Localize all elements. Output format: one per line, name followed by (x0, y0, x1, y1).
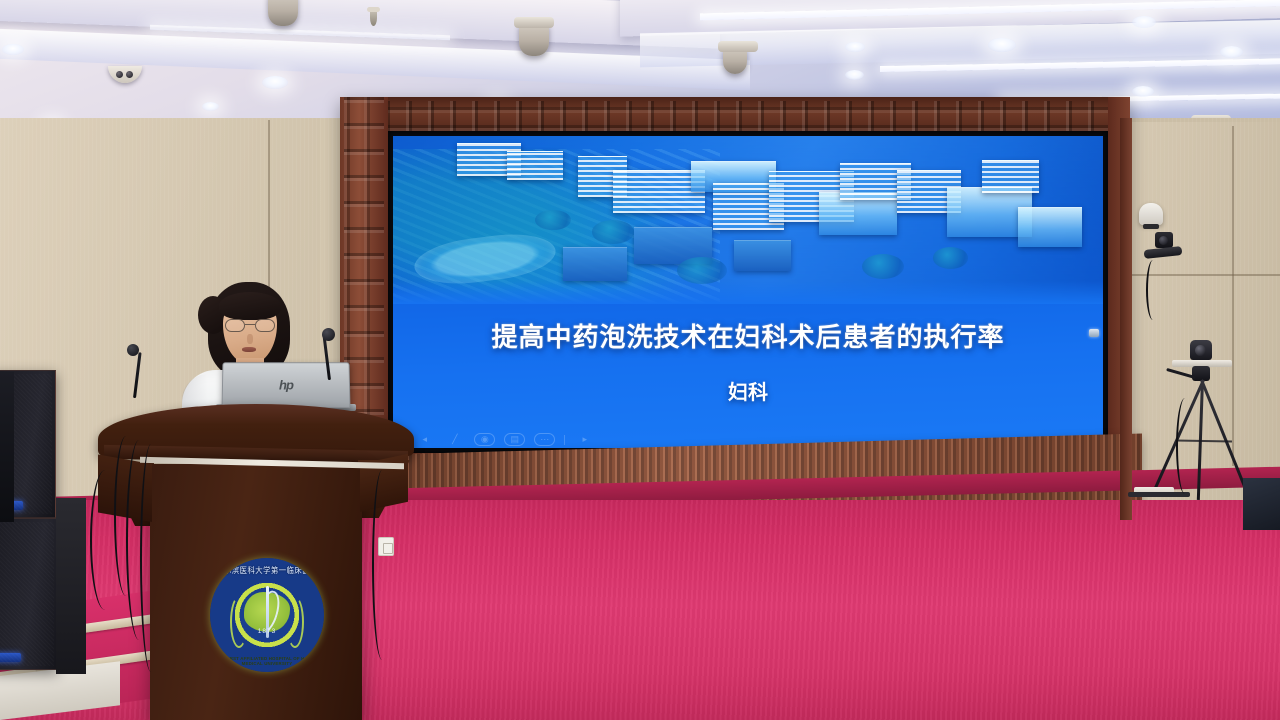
lecture-hall-scene: 提高中药泡洗技术在妇科术后患者的执行率 妇科 ◂ ╱ ◉ ▤ ⋯ ▸ (0, 0, 1280, 720)
glasses-lens-left (225, 319, 245, 332)
next-slide-icon[interactable]: ▸ (574, 433, 595, 446)
gooseneck-mic-right-head-icon (322, 328, 335, 341)
screen-frame-top (340, 97, 1130, 135)
pen-tool-icon[interactable]: ╱ (444, 433, 465, 446)
floor-cable-bar (1128, 492, 1190, 497)
glasses-bridge (245, 324, 255, 325)
emblem-inner: 哈尔滨医科大学第一临床医院 1873 THE FIRST AFFILIATED … (210, 558, 324, 672)
cable-4 (90, 470, 120, 610)
slide-view-icon[interactable]: ▤ (504, 433, 525, 446)
emblem-english-text: THE FIRST AFFILIATED HOSPITAL OF HARBIN … (213, 656, 321, 666)
flood-light-1 (268, 0, 298, 26)
down-light-5 (1132, 16, 1156, 28)
emblem-year: 1873 (210, 628, 324, 635)
wall-trim-right (1120, 118, 1132, 520)
tree-cluster-2 (592, 220, 635, 244)
emblem-chinese-text: 哈尔滨医科大学第一临床医院 (215, 565, 320, 576)
presenter-mouth (242, 347, 256, 352)
laptop-brand-logo: hp (279, 378, 293, 393)
sprinkler-head-1 (370, 10, 377, 26)
speaker-lower (0, 518, 58, 670)
previous-slide-icon[interactable]: ◂ (414, 433, 435, 446)
building-14 (563, 247, 627, 281)
tree-cluster-5 (933, 247, 969, 269)
more-options-icon[interactable]: ⋯ (534, 433, 555, 446)
tripod-camera-rig (1160, 340, 1246, 502)
slide-title: 提高中药泡洗技术在妇科术后患者的执行率 (393, 317, 1103, 354)
laptop[interactable]: hp (222, 362, 351, 408)
cable-5 (372, 470, 392, 660)
slide-background-aerial-photo (393, 136, 1103, 304)
down-light-4 (988, 38, 1016, 52)
gooseneck-mic-left-head-icon (127, 344, 139, 356)
laser-pointer-icon[interactable]: ◉ (474, 433, 495, 446)
tree-cluster-4 (862, 254, 905, 279)
led-video-wall[interactable]: 提高中药泡洗技术在妇科术后患者的执行率 妇科 ◂ ╱ ◉ ▤ ⋯ ▸ (340, 97, 1130, 467)
cable-wall-camera (1146, 260, 1160, 320)
left-equipment-panel (0, 372, 14, 522)
aerial-photo-fade (393, 281, 1103, 305)
tripod-leg-left (1200, 379, 1249, 495)
building-15 (734, 240, 791, 270)
down-light-10 (202, 102, 219, 111)
hospital-emblem: 哈尔滨医科大学第一临床医院 1873 THE FIRST AFFILIATED … (210, 558, 324, 672)
flood-light-2 (519, 22, 549, 56)
screen-bezel: 提高中药泡洗技术在妇科术后患者的执行率 妇科 ◂ ╱ ◉ ▤ ⋯ ▸ (388, 131, 1108, 453)
ptz-camera-white-icon (1139, 203, 1163, 225)
cable-3 (140, 444, 162, 672)
toolbar-separator (564, 435, 565, 445)
slide-subtitle: 妇科 (393, 376, 1103, 405)
powerpoint-presenter-toolbar[interactable]: ◂ ╱ ◉ ▤ ⋯ ▸ (414, 433, 595, 446)
tree-cluster-1 (535, 210, 571, 230)
glasses-lens-right (255, 319, 275, 332)
right-floor-equipment-box (1243, 478, 1280, 530)
cable-tripod (1176, 398, 1194, 494)
ptz-camera-black-icon (1155, 232, 1173, 248)
down-light-1 (2, 44, 24, 55)
down-light-2 (262, 76, 288, 89)
flood-light-3 (723, 46, 747, 74)
down-light-9 (845, 42, 865, 52)
tripod-camera-icon (1190, 340, 1212, 360)
dome-camera-icon (108, 66, 142, 83)
down-light-8 (845, 70, 864, 80)
building-16 (1018, 207, 1082, 247)
speaker-stand (56, 498, 86, 674)
presenter-nose (247, 334, 253, 344)
down-light-6 (1220, 46, 1243, 58)
screen-ir-sensor-icon (1089, 329, 1099, 337)
down-light-7 (1132, 86, 1154, 97)
speaker-logo-badge-2 (0, 653, 21, 662)
presenter-hair-fringe (219, 292, 281, 320)
presentation-slide[interactable]: 提高中药泡洗技术在妇科术后患者的执行率 妇科 ◂ ╱ ◉ ▤ ⋯ ▸ (393, 136, 1103, 448)
building-12 (982, 160, 1039, 194)
building-2 (507, 151, 564, 180)
presenter-glasses-icon (225, 319, 275, 332)
